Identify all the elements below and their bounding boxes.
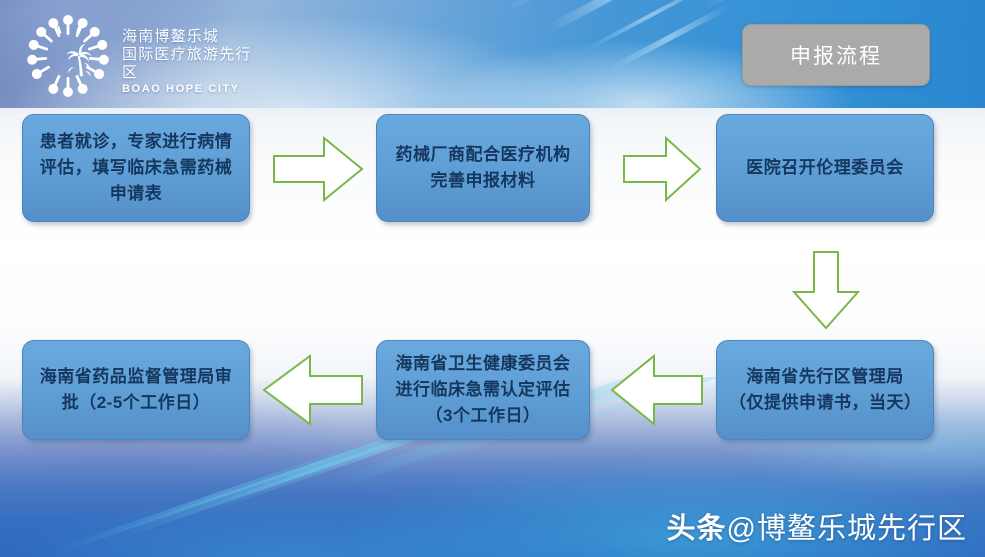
flow-step-2: 药械厂商配合医疗机构完善申报材料 xyxy=(376,114,590,222)
arrow-right-icon-1 xyxy=(272,134,364,204)
flow-step-4-label: 海南省先行区管理局（仅提供申请书，当天） xyxy=(729,364,921,416)
arrow-down-icon xyxy=(790,250,862,330)
flow-step-1: 患者就诊，专家进行病情评估，填写临床急需药械申请表 xyxy=(22,114,250,222)
flow-step-5: 海南省卫生健康委员会进行临床急需认定评估（3个工作日） xyxy=(376,340,590,440)
brand-logo: 海南博鳌乐城 国际医疗旅游先行区 BOAO HOPE CITY xyxy=(22,14,262,98)
brand-line-1: 海南博鳌乐城 xyxy=(122,28,262,46)
watermark-handle: @博鳌乐城先行区 xyxy=(727,513,967,545)
sunburst-palm-logo-icon xyxy=(22,14,114,98)
flow-step-4: 海南省先行区管理局（仅提供申请书，当天） xyxy=(716,340,934,440)
flow-step-1-label: 患者就诊，专家进行病情评估，填写临床急需药械申请表 xyxy=(35,129,237,207)
slide-canvas: 海南博鳌乐城 国际医疗旅游先行区 BOAO HOPE CITY 申报流程 患者就… xyxy=(0,0,985,557)
brand-logo-text: 海南博鳌乐城 国际医疗旅游先行区 BOAO HOPE CITY xyxy=(122,16,262,97)
flow-step-5-label: 海南省卫生健康委员会进行临床急需认定评估（3个工作日） xyxy=(389,351,577,429)
arrow-left-icon-1 xyxy=(610,352,704,428)
flow-step-6-label: 海南省药品监督管理局审批（2-5个工作日） xyxy=(35,364,237,416)
arrow-right-icon-2 xyxy=(622,134,702,204)
flow-step-3: 医院召开伦理委员会 xyxy=(716,114,934,222)
brand-line-2: 国际医疗旅游先行区 xyxy=(122,46,262,82)
watermark-platform: 头条 xyxy=(667,513,727,545)
brand-line-en: BOAO HOPE CITY xyxy=(122,82,262,97)
arrow-left-icon-2 xyxy=(262,352,364,428)
page-title: 申报流程 xyxy=(742,24,930,86)
flow-step-3-label: 医院召开伦理委员会 xyxy=(746,155,904,181)
flow-step-2-label: 药械厂商配合医疗机构完善申报材料 xyxy=(389,142,577,194)
watermark: 头条@博鳌乐城先行区 xyxy=(667,505,967,547)
flow-step-6: 海南省药品监督管理局审批（2-5个工作日） xyxy=(22,340,250,440)
